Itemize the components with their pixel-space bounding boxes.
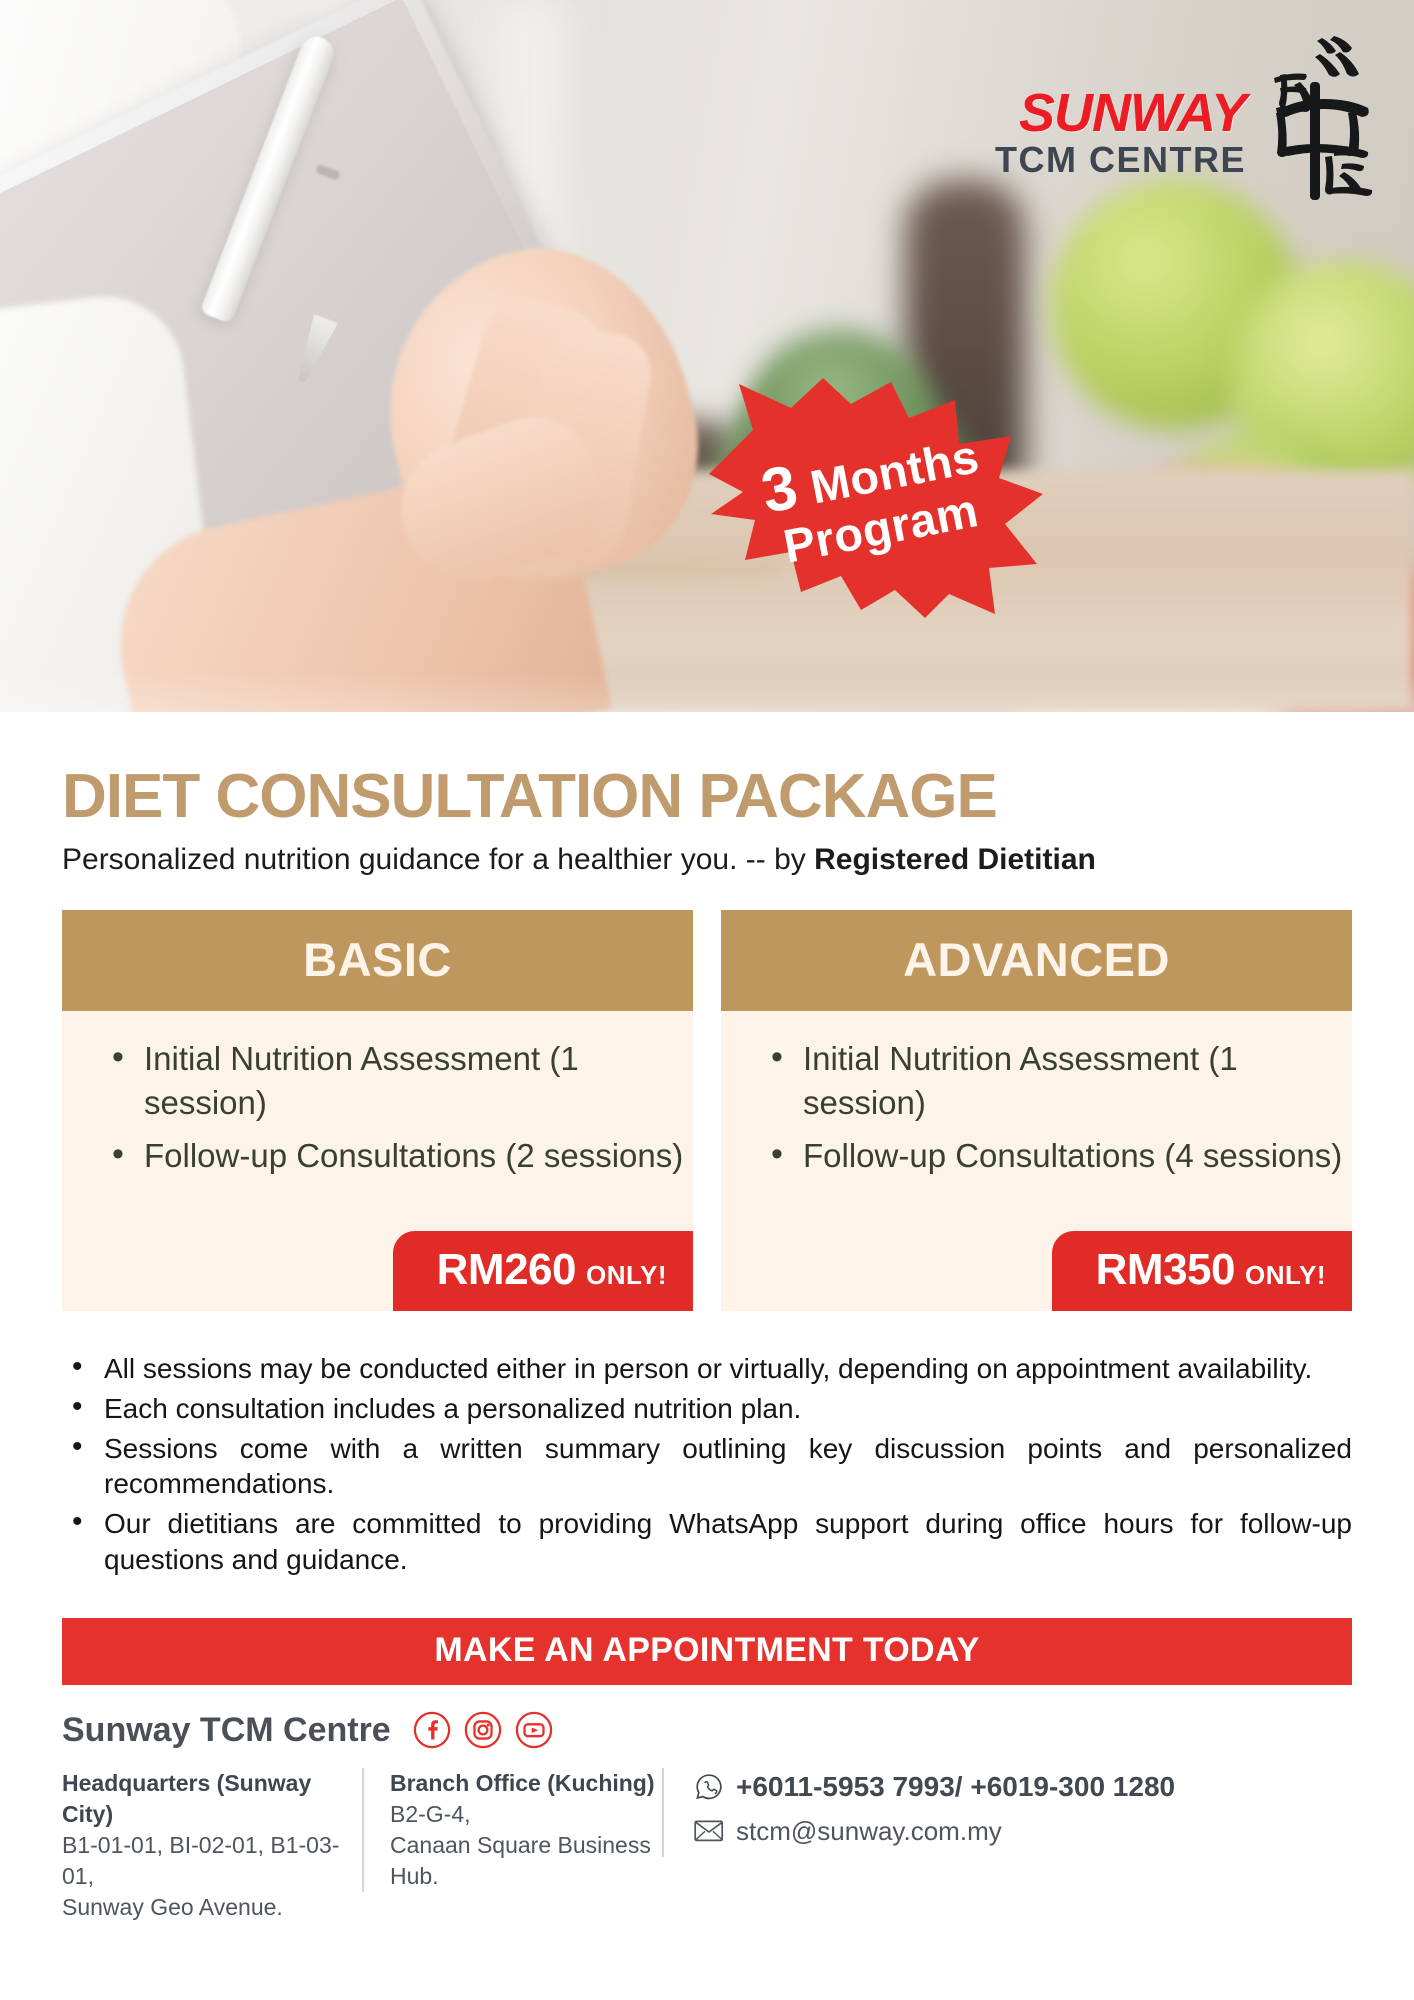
package-card-basic[interactable]: BASIC Initial Nutrition Assessment (1 se… [62,910,693,1311]
page-title: DIET CONSULTATION PACKAGE [62,766,1414,828]
footer-headquarters: Headquarters (Sunway City) B1-01-01, BI-… [62,1768,362,1923]
hero-bottom-fade [0,672,1414,712]
hq-heading: Headquarters (Sunway City) [62,1768,362,1830]
footer-contact: +6011-5953 7993/ +6019-300 1280 stcm@sun… [662,1768,1175,1857]
package-title-advanced: ADVANCED [721,910,1352,1011]
list-item: Initial Nutrition Assessment (1 session) [767,1037,1352,1124]
list-item: Follow-up Consultations (4 sessions) [767,1134,1352,1178]
hq-line-2: Sunway Geo Avenue. [62,1892,362,1923]
make-appointment-banner[interactable]: MAKE AN APPOINTMENT TODAY [62,1618,1352,1685]
envelope-icon [694,1819,724,1843]
youtube-icon[interactable] [515,1711,553,1749]
footer-branch-office: Branch Office (Kuching) B2-G-4, Canaan S… [362,1768,662,1892]
package-cards: BASIC Initial Nutrition Assessment (1 se… [62,910,1352,1311]
instagram-icon[interactable] [464,1711,502,1749]
contact-email: stcm@sunway.com.my [736,1814,1002,1849]
sunway-tcm-logo: SUNWAY TCM CENTRE [995,30,1380,200]
footer-columns: Headquarters (Sunway City) B1-01-01, BI-… [62,1768,1352,1923]
facebook-icon[interactable] [413,1711,451,1749]
branch-line-1: B2-G-4, [390,1799,662,1830]
contact-email-row[interactable]: stcm@sunway.com.my [694,1814,1175,1849]
package-card-advanced[interactable]: ADVANCED Initial Nutrition Assessment (1… [721,910,1352,1311]
whatsapp-icon [694,1772,724,1802]
hq-line-1: B1-01-01, BI-02-01, B1-03-01, [62,1830,362,1892]
list-item: Sessions come with a written summary out… [62,1431,1352,1503]
page-subtitle: Personalized nutrition guidance for a he… [62,842,1414,878]
list-item: Initial Nutrition Assessment (1 session) [108,1037,693,1124]
price-tag-advanced: RM350 ONLY! [1052,1231,1352,1311]
subtitle-plain: Personalized nutrition guidance for a he… [62,843,814,876]
social-links [413,1711,553,1749]
hero-banner: SUNWAY TCM CENTRE [0,0,1414,712]
price-amount: RM350 [1096,1245,1235,1295]
list-item: Each consultation includes a personalize… [62,1391,1352,1427]
logo-chinese-characters-icon [1260,30,1380,200]
terms-notes-list: All sessions may be conducted either in … [62,1351,1352,1578]
price-suffix: ONLY! [1245,1260,1326,1291]
price-amount: RM260 [437,1245,576,1295]
logo-sunway-text: SUNWAY [995,88,1246,139]
package-title-basic: BASIC [62,910,693,1011]
footer-brand-row: Sunway TCM Centre [62,1711,1352,1750]
price-tag-basic: RM260 ONLY! [393,1231,693,1311]
list-item: Our dietitians are committed to providin… [62,1506,1352,1578]
contact-phone-row[interactable]: +6011-5953 7993/ +6019-300 1280 [694,1768,1175,1806]
footer-brand-name: Sunway TCM Centre [62,1711,391,1750]
promo-badge-3-months-program: 3 Months Program [705,378,1045,618]
contact-phone: +6011-5953 7993/ +6019-300 1280 [736,1768,1175,1806]
branch-heading: Branch Office (Kuching) [390,1768,662,1799]
list-item: All sessions may be conducted either in … [62,1351,1352,1387]
poster-content: DIET CONSULTATION PACKAGE Personalized n… [0,712,1414,1923]
list-item: Follow-up Consultations (2 sessions) [108,1134,693,1178]
branch-line-2: Canaan Square Business Hub. [390,1830,662,1892]
logo-tcm-centre-text: TCM CENTRE [995,141,1246,179]
footer: Sunway TCM Centre [62,1711,1352,1923]
price-suffix: ONLY! [586,1260,667,1291]
subtitle-bold: Registered Dietitian [814,843,1096,876]
